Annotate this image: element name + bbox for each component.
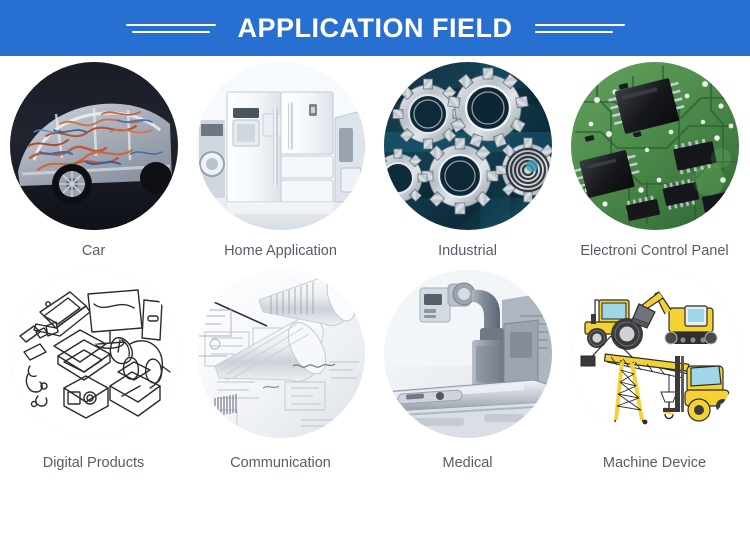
tile-machine-device[interactable]: Machine Device bbox=[561, 270, 748, 482]
application-field-page: APPLICATION FIELD bbox=[0, 0, 750, 544]
construction-vehicles-image bbox=[571, 270, 739, 438]
tile-caption: Medical bbox=[443, 455, 493, 472]
circuit-board-image bbox=[571, 62, 739, 230]
tile-caption: Industrial bbox=[438, 243, 497, 260]
page-header-banner: APPLICATION FIELD bbox=[0, 0, 750, 56]
blueprint-drawings-image bbox=[197, 270, 365, 438]
tile-home-application[interactable]: Home Application bbox=[187, 62, 374, 270]
tile-electronic-control-panel[interactable]: Electroni Control Panel bbox=[561, 62, 748, 270]
tile-caption: Communication bbox=[230, 455, 331, 472]
tile-caption: Digital Products bbox=[43, 455, 145, 472]
tile-medical[interactable]: Medical bbox=[374, 270, 561, 482]
page-title: APPLICATION FIELD bbox=[238, 15, 513, 42]
tile-digital-products[interactable]: Digital Products bbox=[0, 270, 187, 482]
tile-caption: Car bbox=[82, 243, 105, 260]
home-appliances-image bbox=[197, 62, 365, 230]
left-divider-icon bbox=[126, 24, 216, 33]
tile-communication[interactable]: Communication bbox=[187, 270, 374, 482]
metal-gears-image bbox=[384, 62, 552, 230]
car-wiring-harness-image bbox=[10, 62, 178, 230]
medical-xray-machine-image bbox=[384, 270, 552, 438]
right-divider-icon bbox=[535, 24, 625, 33]
tile-industrial[interactable]: Industrial bbox=[374, 62, 561, 270]
application-field-grid: Car bbox=[0, 62, 750, 482]
digital-products-image bbox=[10, 270, 178, 438]
tile-caption: Electroni Control Panel bbox=[580, 243, 728, 260]
tile-caption: Machine Device bbox=[603, 455, 706, 472]
tile-car[interactable]: Car bbox=[0, 62, 187, 270]
tile-caption: Home Application bbox=[224, 243, 337, 260]
